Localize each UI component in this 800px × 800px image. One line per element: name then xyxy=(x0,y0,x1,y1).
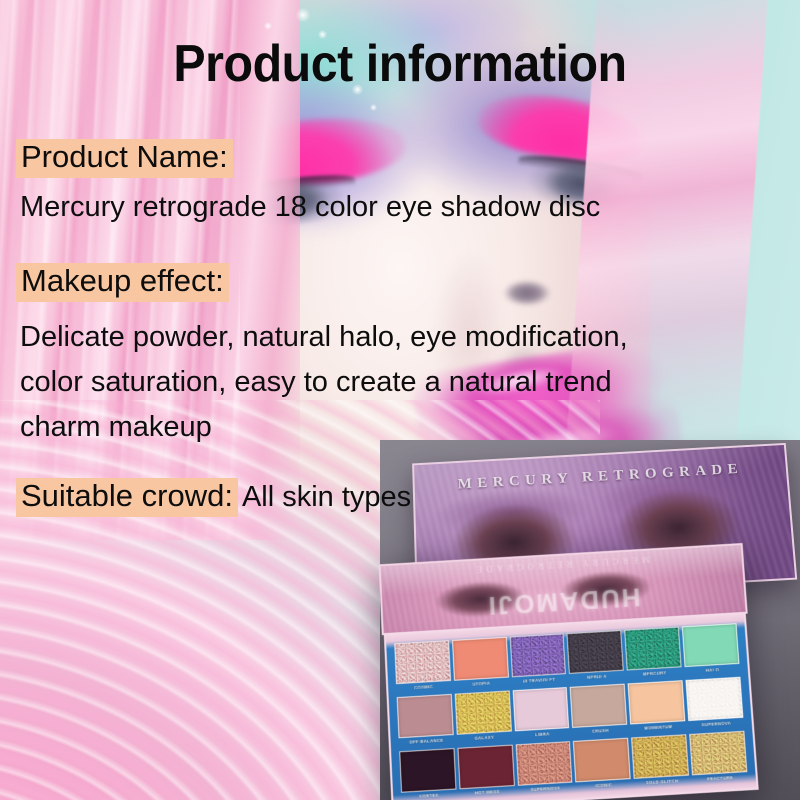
suitable-crowd-value: All skin types xyxy=(238,480,411,515)
eyeshadow-pan[interactable]: ICONIC xyxy=(573,738,631,793)
eyeshadow-pan[interactable]: LIBRA xyxy=(512,687,570,741)
eyeshadow-pan-swatch[interactable] xyxy=(455,690,512,734)
makeup-effect-line: color saturation, easy to create a natur… xyxy=(20,360,628,405)
makeup-effect-label: Makeup effect: xyxy=(16,263,229,302)
eyeshadow-pan[interactable]: FRACTURE xyxy=(689,731,748,786)
eyeshadow-pan-swatch[interactable] xyxy=(689,731,747,776)
eyeshadow-pan-swatch[interactable] xyxy=(624,627,681,671)
section-suitable-crowd: Suitable crowd:All skin types xyxy=(16,478,411,517)
eyeshadow-pan-swatch[interactable] xyxy=(567,630,624,674)
eyeshadow-pan[interactable]: MERCURY xyxy=(624,627,682,681)
eyeshadow-palette[interactable]: MERCURY RETROGRADE HUDAMOJI COSMICUTOPIA… xyxy=(379,543,761,800)
glitter-sparkle xyxy=(296,8,310,22)
eyeshadow-pan-swatch[interactable] xyxy=(515,741,572,786)
eyeshadow-pan[interactable]: COSMIC xyxy=(394,640,451,694)
glitter-sparkle xyxy=(370,104,377,111)
eyeshadow-pan[interactable]: SUPERNOVA xyxy=(515,741,573,796)
section-makeup-effect: Makeup effect: Delicate powder, natural … xyxy=(16,263,229,302)
page-title: Product information xyxy=(28,34,772,94)
eyeshadow-pan[interactable]: HALO xyxy=(682,623,740,677)
eyeshadow-pan-grid: COSMICUTOPIAULTRAVIOLETNEBULAMERCURYHALO… xyxy=(394,623,748,800)
product-name-label: Product Name: xyxy=(16,139,233,178)
eyeshadow-pan[interactable]: GOLD GLITCH xyxy=(631,734,689,789)
eyeshadow-pan[interactable]: MOMENTUM xyxy=(628,680,686,734)
makeup-effect-line: charm makeup xyxy=(20,405,628,450)
eyeshadow-pan-swatch[interactable] xyxy=(686,677,744,721)
eyeshadow-pan-swatch[interactable] xyxy=(682,623,739,667)
palette-pan-tray: COSMICUTOPIAULTRAVIOLETNEBULAMERCURYHALO… xyxy=(384,612,759,800)
eyeshadow-pan[interactable]: VORTEX xyxy=(399,748,457,800)
suitable-crowd-label: Suitable crowd: xyxy=(16,478,238,517)
eyeshadow-pan-swatch[interactable] xyxy=(397,694,454,738)
glitter-sparkle xyxy=(264,22,272,30)
eyeshadow-pan-swatch[interactable] xyxy=(512,687,569,731)
section-product-name: Product Name: Mercury retrograde 18 colo… xyxy=(16,139,233,178)
eyeshadow-pan[interactable]: NEBULA xyxy=(567,630,625,684)
eyeshadow-pan-swatch[interactable] xyxy=(570,684,627,728)
eyeshadow-pan[interactable]: GALAXY xyxy=(455,690,513,744)
eyeshadow-pan[interactable]: SUPERNOVA xyxy=(686,677,744,731)
eyeshadow-pan[interactable]: CRUSH xyxy=(570,684,628,738)
eyeshadow-pan[interactable]: OFF BALANCE xyxy=(397,694,454,748)
eyeshadow-pan[interactable]: ULTRAVIOLET xyxy=(509,633,567,687)
product-infographic: MERCURY RETROGRADE MERCURY RETROGRADE HU… xyxy=(0,0,800,800)
eyeshadow-pan-swatch[interactable] xyxy=(573,738,631,783)
eyeshadow-pan-swatch[interactable] xyxy=(394,640,451,684)
makeup-effect-line: Delicate powder, natural halo, eye modif… xyxy=(20,315,628,360)
eyeshadow-pan-swatch[interactable] xyxy=(457,745,514,790)
eyeshadow-pan-swatch[interactable] xyxy=(399,748,456,793)
eyeshadow-pan[interactable]: UTOPIA xyxy=(452,637,509,691)
eyeshadow-pan[interactable]: HOT MESS xyxy=(457,745,515,800)
eyeshadow-pan-swatch[interactable] xyxy=(628,680,686,724)
eyeshadow-pan-swatch[interactable] xyxy=(509,633,566,677)
makeup-effect-value: Delicate powder, natural halo, eye modif… xyxy=(20,315,628,450)
model-nostril xyxy=(503,280,551,306)
eyeshadow-pan-swatch[interactable] xyxy=(631,734,689,779)
product-name-value: Mercury retrograde 18 color eye shadow d… xyxy=(20,191,600,224)
eyeshadow-pan-swatch[interactable] xyxy=(452,637,509,681)
